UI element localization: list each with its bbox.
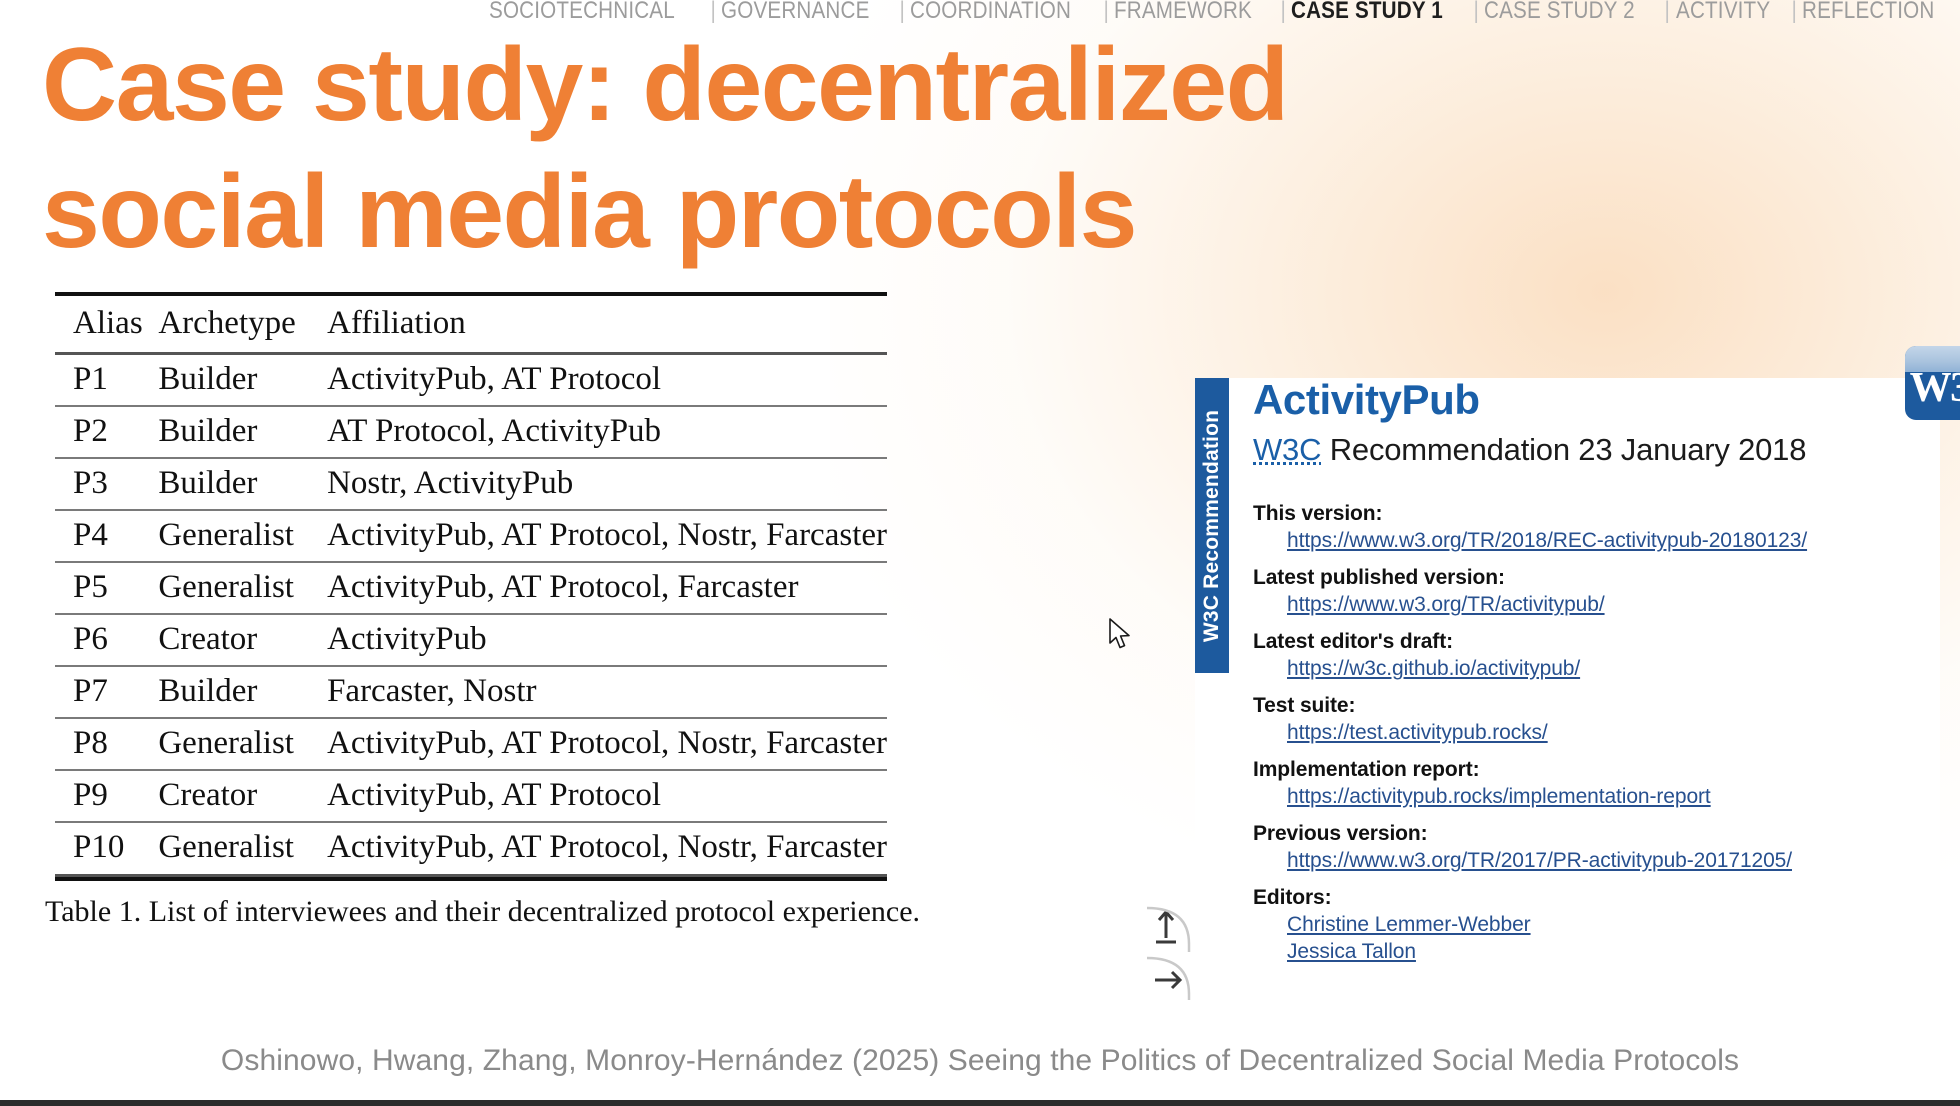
cell-archetype: Builder <box>158 666 327 718</box>
spec-meta-link[interactable]: https://w3c.github.io/activitypub/ <box>1287 657 1940 681</box>
table-row: P5GeneralistActivityPub, AT Protocol, Fa… <box>55 562 887 614</box>
cell-archetype: Generalist <box>158 510 327 562</box>
table-row: P10GeneralistActivityPub, AT Protocol, N… <box>55 822 887 873</box>
mouse-cursor <box>1108 618 1134 652</box>
column-header-alias: Alias <box>55 294 158 354</box>
spec-status-line: W3C Recommendation 23 January 2018 <box>1253 432 1940 468</box>
spec-metadata-list: This version:https://www.w3.org/TR/2018/… <box>1253 502 1940 873</box>
cell-affiliation: Farcaster, Nostr <box>327 666 887 718</box>
editor-link-1[interactable]: Jessica Tallon <box>1287 940 1940 964</box>
spec-meta-label: This version: <box>1253 502 1940 526</box>
table-bottom-rule <box>55 874 887 881</box>
spec-meta-block-1: Latest published version:https://www.w3.… <box>1253 566 1940 617</box>
interviewees-table: Alias Archetype Affiliation P1BuilderAct… <box>55 292 887 873</box>
breadcrumb-item-activity[interactable]: ACTIVITY <box>1676 0 1770 25</box>
table-row: P9CreatorActivityPub, AT Protocol <box>55 770 887 822</box>
column-header-affiliation: Affiliation <box>327 294 887 354</box>
arrow-right-icon <box>1155 972 1180 988</box>
spec-meta-block-3: Test suite:https://test.activitypub.rock… <box>1253 694 1940 745</box>
table-header-row: Alias Archetype Affiliation <box>55 294 887 354</box>
cell-alias: P3 <box>55 458 158 510</box>
cell-affiliation: Nostr, ActivityPub <box>327 458 887 510</box>
cell-archetype: Generalist <box>158 718 327 770</box>
cell-alias: P5 <box>55 562 158 614</box>
spec-meta-label: Test suite: <box>1253 694 1940 718</box>
cell-affiliation: AT Protocol, ActivityPub <box>327 406 887 458</box>
editor-link-0[interactable]: Christine Lemmer-Webber <box>1287 913 1940 937</box>
breadcrumb-separator: | <box>1473 0 1479 25</box>
bottom-rule <box>0 1100 1960 1106</box>
column-header-archetype: Archetype <box>158 294 327 354</box>
cell-alias: P7 <box>55 666 158 718</box>
spec-meta-block-2: Latest editor's draft:https://w3c.github… <box>1253 630 1940 681</box>
table-head: Alias Archetype Affiliation <box>55 294 887 354</box>
page-navigation-arrows[interactable] <box>1147 900 1209 1000</box>
breadcrumb-item-reflection[interactable]: REFLECTION <box>1802 0 1934 25</box>
cell-affiliation: ActivityPub, AT Protocol, Farcaster <box>327 562 887 614</box>
page-title-line-2: social media protocols <box>42 149 1362 276</box>
cell-archetype: Generalist <box>158 822 327 873</box>
page-title: Case study: decentralized social media p… <box>42 22 1362 276</box>
table-row: P8GeneralistActivityPub, AT Protocol, No… <box>55 718 887 770</box>
cell-archetype: Generalist <box>158 562 327 614</box>
cell-affiliation: ActivityPub, AT Protocol, Nostr, Farcast… <box>327 822 887 873</box>
table-row: P6CreatorActivityPub <box>55 614 887 666</box>
table-body: P1BuilderActivityPub, AT ProtocolP2Build… <box>55 354 887 874</box>
table-row: P1BuilderActivityPub, AT Protocol <box>55 354 887 407</box>
spec-status-text: Recommendation 23 January 2018 <box>1321 432 1806 467</box>
spec-meta-link[interactable]: https://www.w3.org/TR/2018/REC-activityp… <box>1287 529 1940 553</box>
editors-block: Editors: Christine Lemmer-Webber Jessica… <box>1253 886 1940 964</box>
cell-archetype: Builder <box>158 406 327 458</box>
cell-alias: P10 <box>55 822 158 873</box>
w3c-logo-text: W3C <box>1905 364 1960 412</box>
cell-alias: P4 <box>55 510 158 562</box>
w3c-body: W3C ® ActivityPub W3C Recommendation 23 … <box>1253 378 1940 977</box>
cell-archetype: Builder <box>158 458 327 510</box>
w3c-recommendation-spine: W3C Recommendation <box>1195 378 1229 673</box>
spec-meta-link[interactable]: https://www.w3.org/TR/activitypub/ <box>1287 593 1940 617</box>
w3c-acronym-link[interactable]: W3C <box>1253 432 1321 467</box>
cell-alias: P1 <box>55 354 158 407</box>
footer-citation: Oshinowo, Hwang, Zhang, Monroy-Hernández… <box>0 1044 1960 1078</box>
breadcrumb-separator: | <box>1665 0 1671 25</box>
table-caption: Table 1. List of interviewees and their … <box>45 895 895 929</box>
cell-affiliation: ActivityPub <box>327 614 887 666</box>
spec-meta-link[interactable]: https://activitypub.rocks/implementation… <box>1287 785 1940 809</box>
cell-archetype: Creator <box>158 614 327 666</box>
table-row: P3BuilderNostr, ActivityPub <box>55 458 887 510</box>
spec-meta-label: Previous version: <box>1253 822 1940 846</box>
cell-archetype: Builder <box>158 354 327 407</box>
breadcrumb-separator: | <box>1791 0 1797 25</box>
cell-affiliation: ActivityPub, AT Protocol <box>327 770 887 822</box>
breadcrumb-item-case-study-2[interactable]: CASE STUDY 2 <box>1484 0 1635 25</box>
spec-meta-label: Implementation report: <box>1253 758 1940 782</box>
cell-alias: P8 <box>55 718 158 770</box>
spec-meta-block-4: Implementation report:https://activitypu… <box>1253 758 1940 809</box>
spec-meta-block-0: This version:https://www.w3.org/TR/2018/… <box>1253 502 1940 553</box>
w3c-logo: W3C ® <box>1905 346 1960 420</box>
cell-alias: P6 <box>55 614 158 666</box>
cell-affiliation: ActivityPub, AT Protocol <box>327 354 887 407</box>
editors-label: Editors: <box>1253 886 1940 910</box>
cell-affiliation: ActivityPub, AT Protocol, Nostr, Farcast… <box>327 510 887 562</box>
table-row: P2BuilderAT Protocol, ActivityPub <box>55 406 887 458</box>
w3c-spec-screenshot: W3C Recommendation <box>1195 378 1940 1008</box>
cell-archetype: Creator <box>158 770 327 822</box>
spec-meta-link[interactable]: https://test.activitypub.rocks/ <box>1287 721 1940 745</box>
spec-title: ActivityPub <box>1253 378 1940 422</box>
spec-meta-label: Latest editor's draft: <box>1253 630 1940 654</box>
cell-alias: P9 <box>55 770 158 822</box>
cell-affiliation: ActivityPub, AT Protocol, Nostr, Farcast… <box>327 718 887 770</box>
table-row: P7BuilderFarcaster, Nostr <box>55 666 887 718</box>
spec-meta-block-5: Previous version:https://www.w3.org/TR/2… <box>1253 822 1940 873</box>
page-title-line-1: Case study: decentralized <box>42 22 1362 149</box>
cell-alias: P2 <box>55 406 158 458</box>
w3c-spine-label: W3C Recommendation <box>1200 409 1224 641</box>
spec-meta-link[interactable]: https://www.w3.org/TR/2017/PR-activitypu… <box>1287 849 1940 873</box>
table-row: P4GeneralistActivityPub, AT Protocol, No… <box>55 510 887 562</box>
spec-meta-label: Latest published version: <box>1253 566 1940 590</box>
table-figure: Alias Archetype Affiliation P1BuilderAct… <box>55 292 895 929</box>
slide: SOCIOTECHNICAL|GOVERNANCE|COORDINATION|F… <box>0 0 1960 1106</box>
arrow-up-icon <box>1156 912 1176 942</box>
